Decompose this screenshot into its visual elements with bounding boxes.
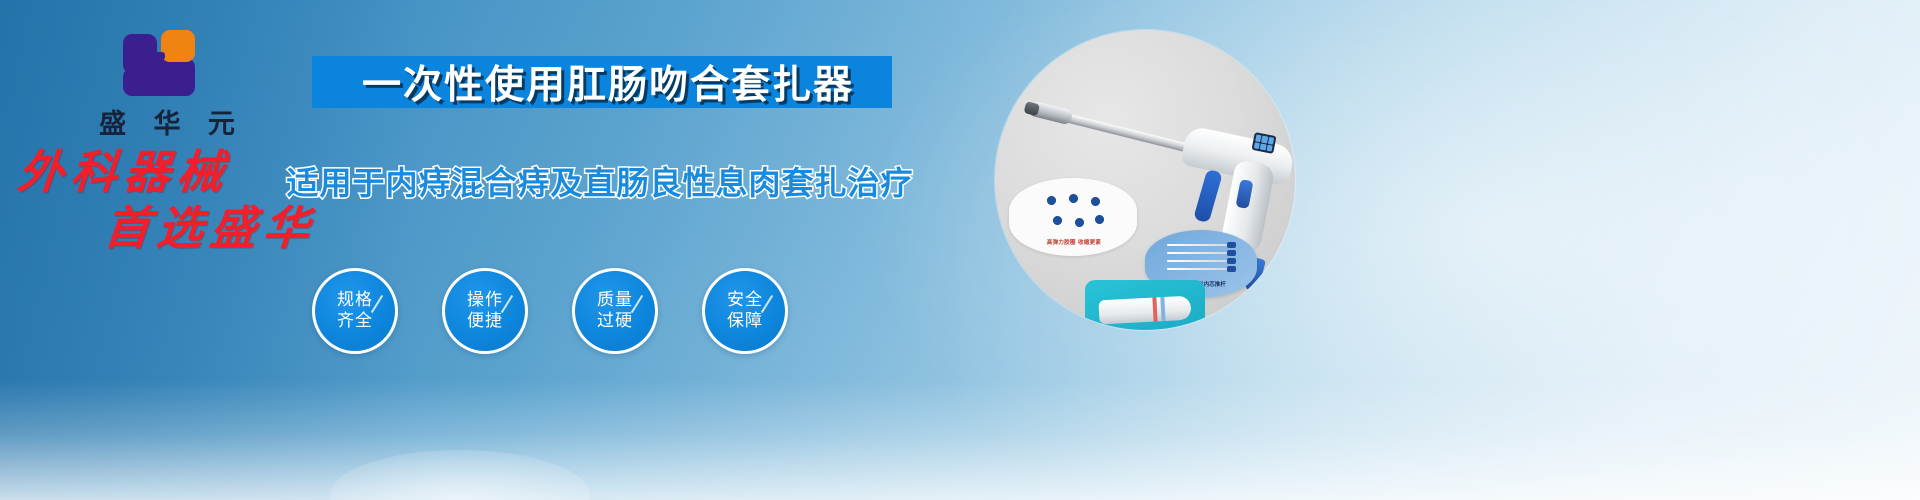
inset-bands-caption: 高弹力胶圈 收缩更紧: [1026, 238, 1122, 249]
anoscope-icon: [1098, 296, 1191, 325]
inset-anoscope: [1085, 280, 1205, 330]
badge-label-line1: 安全: [727, 290, 763, 311]
device-keypad-icon: [1251, 132, 1276, 154]
brand-logo[interactable]: 盛 华 元: [72, 28, 262, 141]
brand-name: 盛 华 元: [72, 102, 262, 141]
badge-label-line1: 规格: [337, 290, 373, 311]
badge-label-line2: 保障: [727, 311, 763, 332]
page-title: 一次性使用肛肠吻合套扎器: [328, 57, 888, 107]
badge-caozuo-bianjie[interactable]: 操作 便捷: [442, 268, 528, 354]
badge-anquan-baozhang[interactable]: 安全 保障: [702, 268, 788, 354]
feature-badges: 规格 齐全 操作 便捷 质量 过硬 安全 保障: [312, 268, 788, 354]
shenghuayuan-blocks-logo-icon: [121, 28, 213, 96]
badge-label-line1: 操作: [467, 290, 503, 311]
inset-rubber-bands: 高弹力胶圈 收缩更紧: [1009, 178, 1137, 256]
badge-label-line2: 便捷: [467, 311, 503, 332]
badge-label-line2: 过硬: [597, 311, 633, 332]
decorative-swoosh: [330, 450, 590, 500]
rubber-band-dots-icon: [1039, 194, 1107, 234]
badge-label-line2: 齐全: [337, 311, 373, 332]
bottom-fade: [0, 380, 1920, 500]
badge-guige-qiquan[interactable]: 规格 齐全: [312, 268, 398, 354]
page-subtitle: 适用于内痔混合痔及直肠良性息肉套扎治疗: [290, 158, 910, 204]
slogan-line-2: 首选盛华: [102, 204, 360, 254]
badge-zhiliang-guoying[interactable]: 质量 过硬: [572, 268, 658, 354]
device-trigger: [1193, 169, 1223, 223]
product-photo[interactable]: 高弹力胶圈 收缩更紧 高强度钢丝内芯推杆: [995, 30, 1295, 330]
badge-label-line1: 质量: [597, 290, 633, 311]
